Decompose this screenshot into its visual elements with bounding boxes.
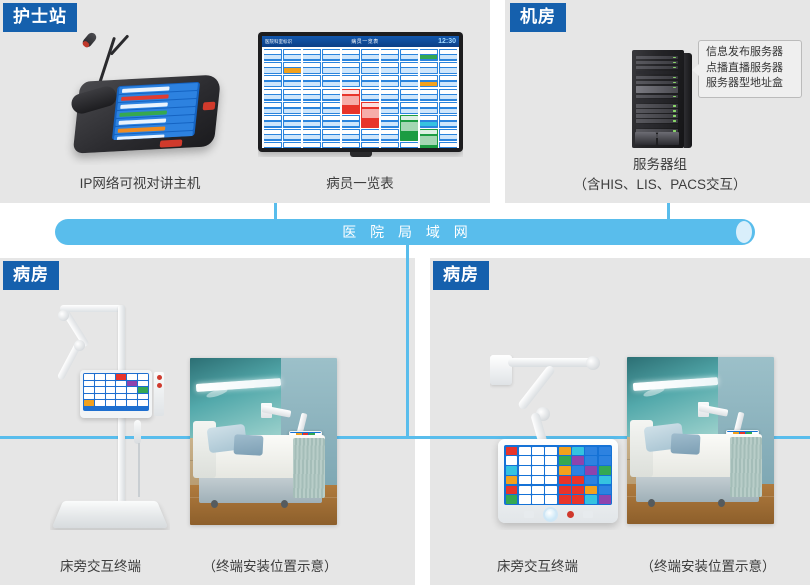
terminal-cord xyxy=(138,443,140,497)
terminal-tile xyxy=(545,447,557,456)
terminal-tile xyxy=(506,447,518,456)
terminal-tile xyxy=(506,476,518,485)
wall-arm-diagonal xyxy=(517,364,556,411)
rack-foot-modules xyxy=(635,132,679,145)
patient-card xyxy=(283,129,301,141)
patient-card xyxy=(264,75,282,87)
caption-ip-intercom: IP网络可视对讲主机 xyxy=(30,174,250,194)
terminal-tile xyxy=(519,486,531,495)
terminal-tile xyxy=(127,400,137,406)
terminal-home-ring-icon xyxy=(543,507,558,522)
patient-card xyxy=(420,129,438,148)
patient-card xyxy=(342,75,360,87)
ward-room-photo-left xyxy=(190,358,337,525)
patient-card xyxy=(322,102,340,114)
patient-card xyxy=(400,102,418,114)
patient-card xyxy=(420,75,438,87)
caption-server-line1: 服务器组 xyxy=(520,155,800,175)
patient-card xyxy=(420,89,438,101)
patient-card xyxy=(283,62,301,74)
patient-card xyxy=(303,49,321,61)
terminal-tile xyxy=(572,495,584,504)
patient-card xyxy=(381,142,399,148)
terminal-tile xyxy=(116,400,126,406)
patient-card xyxy=(400,115,418,141)
terminal-tile xyxy=(84,387,94,393)
terminal-side-buttons xyxy=(154,372,164,416)
rack-slot xyxy=(636,124,678,127)
terminal-housing-wall xyxy=(498,439,618,523)
section-tag-server-room: 机房 xyxy=(511,4,565,31)
patient-card xyxy=(283,115,301,127)
patient-card xyxy=(381,89,399,101)
terminal-tile xyxy=(532,447,544,456)
hospital-lan-label: 医 院 局 域 网 xyxy=(55,219,755,245)
patient-card xyxy=(400,142,418,148)
patient-card xyxy=(439,75,457,87)
patient-card xyxy=(361,142,379,148)
rack-slot xyxy=(636,95,678,98)
terminal-tile xyxy=(506,495,518,504)
patient-card xyxy=(400,75,418,87)
terminal-tile xyxy=(116,374,126,380)
rack-slot xyxy=(636,66,678,69)
terminal-tile xyxy=(572,486,584,495)
terminal-tile xyxy=(106,387,116,393)
patient-card xyxy=(303,62,321,74)
microphone-head-icon xyxy=(81,31,98,49)
terminal-tile xyxy=(599,456,611,465)
patient-card xyxy=(283,102,301,114)
terminal-screen xyxy=(83,373,149,411)
tv-screen: 医院科室标识 病员一览表 12:30 xyxy=(262,36,459,148)
terminal-chin-controls xyxy=(504,505,612,523)
patient-card xyxy=(420,62,438,74)
terminal-tile xyxy=(585,456,597,465)
patient-card xyxy=(342,62,360,74)
section-tag-nurse-station: 护士站 xyxy=(4,4,76,31)
rack-slot xyxy=(636,61,678,64)
section-tag-ward-right: 病房 xyxy=(434,262,488,289)
patient-card xyxy=(264,115,282,127)
terminal-tile xyxy=(84,394,94,400)
terminal-tile xyxy=(506,456,518,465)
rack-slot xyxy=(636,71,678,74)
caption-terminal-left: 床旁交互终端 xyxy=(18,557,183,577)
terminal-tile xyxy=(532,486,544,495)
patient-card xyxy=(439,142,457,148)
terminal-tile xyxy=(519,495,531,504)
terminal-tile xyxy=(559,495,571,504)
hospital-lan-bar: 医 院 局 域 网 xyxy=(55,219,755,245)
terminal-tile xyxy=(545,456,557,465)
patient-card xyxy=(342,49,360,61)
patient-card xyxy=(303,142,321,148)
terminal-tile xyxy=(95,374,105,380)
patient-card xyxy=(264,102,282,114)
caption-terminal-right: 床旁交互终端 xyxy=(455,557,620,577)
patient-card xyxy=(361,75,379,87)
rack-slot xyxy=(636,56,678,59)
patient-card xyxy=(381,115,399,127)
tv-stand xyxy=(350,152,372,157)
terminal-tile xyxy=(545,466,557,475)
rack-slot xyxy=(636,86,678,93)
terminal-tile xyxy=(106,400,116,406)
patient-card xyxy=(283,49,301,61)
rack-slot xyxy=(636,81,678,84)
patient-card xyxy=(264,89,282,101)
terminal-tile xyxy=(599,447,611,456)
terminal-tile xyxy=(545,495,557,504)
terminal-tile xyxy=(572,466,584,475)
stand-joint-2 xyxy=(74,340,85,351)
patient-card xyxy=(381,62,399,74)
terminal-tile xyxy=(127,394,137,400)
console-screen xyxy=(112,82,200,140)
rack-side-panel xyxy=(684,53,692,148)
terminal-tile xyxy=(599,466,611,475)
patient-card-grid xyxy=(262,47,459,148)
patient-card xyxy=(303,75,321,87)
patient-card xyxy=(322,49,340,61)
terminal-tile xyxy=(116,394,126,400)
ip-intercom-console-image xyxy=(55,30,235,165)
terminal-tile xyxy=(572,456,584,465)
patient-card xyxy=(264,142,282,148)
patient-card xyxy=(342,129,360,141)
rack-slots xyxy=(636,56,678,139)
wall-arm-joint-1 xyxy=(586,356,600,370)
patient-card xyxy=(361,102,379,128)
patient-card xyxy=(322,75,340,87)
patient-card xyxy=(303,129,321,141)
bed-pillow-small xyxy=(671,433,701,455)
stand-base-plate xyxy=(52,501,169,528)
patient-card xyxy=(381,102,399,114)
terminal-tile xyxy=(585,495,597,504)
terminal-housing xyxy=(80,370,152,418)
terminal-tile xyxy=(127,381,137,387)
terminal-tile xyxy=(138,400,148,406)
rack-slot xyxy=(636,119,678,122)
terminal-tile xyxy=(545,476,557,485)
terminal-tile xyxy=(585,486,597,495)
terminal-tile xyxy=(138,374,148,380)
patient-card xyxy=(303,115,321,127)
connector-lan-down xyxy=(406,243,409,439)
patient-card xyxy=(400,62,418,74)
caption-server-group: 服务器组 （含HIS、LIS、PACS交互） xyxy=(520,155,800,194)
terminal-tile xyxy=(572,447,584,456)
terminal-tile xyxy=(84,374,94,380)
terminal-tile-grid-wall xyxy=(506,447,611,504)
patient-card xyxy=(420,49,438,61)
terminal-tile xyxy=(532,466,544,475)
patient-card xyxy=(342,89,360,115)
patient-card xyxy=(361,49,379,61)
callout-line-1: 信息发布服务器 xyxy=(706,45,796,61)
topology-diagram: 护士站 机房 病房 病房 IP网络可视对讲主机 医院科室标识 病员一览表 12: xyxy=(0,0,810,585)
terminal-tile xyxy=(559,456,571,465)
patient-card xyxy=(283,89,301,101)
patient-card xyxy=(439,89,457,101)
patient-card xyxy=(322,62,340,74)
terminal-tile xyxy=(572,476,584,485)
callout-line-2: 点播直播服务器 xyxy=(706,61,796,77)
terminal-tile xyxy=(585,447,597,456)
lan-bar-end-cap xyxy=(736,221,752,243)
terminal-tile xyxy=(519,447,531,456)
tv-header-clock: 12:30 xyxy=(438,38,456,45)
terminal-tile xyxy=(138,381,148,387)
rack-slot xyxy=(636,114,678,117)
server-rack-image xyxy=(632,50,692,148)
patient-card xyxy=(381,129,399,141)
terminal-tile xyxy=(84,400,94,406)
terminal-tile xyxy=(84,381,94,387)
terminal-tile xyxy=(127,387,137,393)
terminal-tile xyxy=(138,394,148,400)
terminal-handset-icon xyxy=(134,420,141,444)
section-tag-ward-left: 病房 xyxy=(4,262,58,289)
stand-joint-1 xyxy=(58,310,69,321)
patient-card xyxy=(400,49,418,61)
patient-card xyxy=(439,129,457,141)
terminal-tile xyxy=(106,394,116,400)
caption-server-line2: （含HIS、LIS、PACS交互） xyxy=(520,175,800,195)
patient-card xyxy=(342,115,360,127)
patient-card xyxy=(381,75,399,87)
patient-card xyxy=(439,49,457,61)
caption-install-left: （终端安装位置示意） xyxy=(180,557,360,577)
tv-header: 医院科室标识 病员一览表 12:30 xyxy=(262,36,459,47)
patient-card xyxy=(342,142,360,148)
terminal-tile xyxy=(599,486,611,495)
patient-card xyxy=(283,142,301,148)
bed-pillow-small xyxy=(234,434,264,456)
callout-line-3: 服务器型地址盒 xyxy=(706,76,796,92)
patient-card xyxy=(439,102,457,114)
patient-card xyxy=(361,129,379,141)
console-button-red xyxy=(203,102,216,111)
terminal-tile xyxy=(545,486,557,495)
patient-card xyxy=(322,89,340,101)
patient-card xyxy=(400,89,418,101)
terminal-tile xyxy=(559,476,571,485)
terminal-tile xyxy=(559,447,571,456)
terminal-tile xyxy=(519,456,531,465)
rack-body xyxy=(632,50,684,148)
terminal-tile xyxy=(95,381,105,387)
patient-card xyxy=(322,115,340,127)
patient-list-tv-image: 医院科室标识 病员一览表 12:30 xyxy=(258,32,463,157)
terminal-tile xyxy=(116,381,126,387)
terminal-tile xyxy=(95,387,105,393)
terminal-tile-grid xyxy=(84,374,148,406)
terminal-tile xyxy=(116,387,126,393)
terminal-tile xyxy=(106,374,116,380)
terminal-tile xyxy=(585,466,597,475)
patient-card xyxy=(361,62,379,74)
bed-throw-blanket xyxy=(293,438,325,498)
terminal-tile xyxy=(532,476,544,485)
patient-card xyxy=(361,89,379,101)
terminal-tile xyxy=(532,495,544,504)
patient-card xyxy=(264,62,282,74)
terminal-button-left xyxy=(524,511,534,518)
tv-header-title: 病员一览表 xyxy=(351,38,379,45)
terminal-tile xyxy=(519,476,531,485)
patient-card xyxy=(264,49,282,61)
patient-card xyxy=(303,102,321,114)
terminal-tile xyxy=(519,466,531,475)
caption-install-right: （终端安装位置示意） xyxy=(618,557,798,577)
terminal-tile xyxy=(532,456,544,465)
patient-card xyxy=(303,89,321,101)
terminal-button-right xyxy=(583,511,593,518)
patient-card xyxy=(264,129,282,141)
terminal-tile xyxy=(585,476,597,485)
server-callout-box: 信息发布服务器 点播直播服务器 服务器型地址盒 xyxy=(698,40,802,98)
tv-header-logo: 医院科室标识 xyxy=(265,39,292,45)
terminal-tile xyxy=(506,486,518,495)
terminal-tile xyxy=(506,466,518,475)
patient-card xyxy=(420,115,438,127)
rack-slot xyxy=(636,104,678,107)
terminal-tile xyxy=(599,476,611,485)
ward-room-photo-right xyxy=(627,357,774,524)
terminal-tile xyxy=(559,486,571,495)
terminal-tile xyxy=(559,466,571,475)
terminal-tile xyxy=(599,495,611,504)
terminal-tile xyxy=(138,387,148,393)
terminal-tile xyxy=(127,374,137,380)
caption-patient-list: 病员一览表 xyxy=(255,174,465,194)
bedside-terminal-floorstand-image xyxy=(50,300,170,530)
rack-slot xyxy=(636,76,678,79)
patient-card xyxy=(322,129,340,141)
console-button-bar xyxy=(160,139,183,147)
rack-slot xyxy=(636,109,678,112)
patient-card xyxy=(439,62,457,74)
terminal-call-button-icon xyxy=(567,511,574,518)
patient-card xyxy=(420,102,438,114)
terminal-tile xyxy=(95,400,105,406)
patient-card xyxy=(439,115,457,127)
bedside-terminal-wallarm-image xyxy=(490,355,650,530)
rack-slot xyxy=(636,99,678,102)
patient-card xyxy=(283,75,301,87)
patient-card xyxy=(381,49,399,61)
patient-card xyxy=(322,142,340,148)
terminal-screen-wall xyxy=(504,445,612,505)
bed-throw-blanket xyxy=(730,437,762,497)
terminal-tile xyxy=(106,381,116,387)
terminal-tile xyxy=(95,394,105,400)
